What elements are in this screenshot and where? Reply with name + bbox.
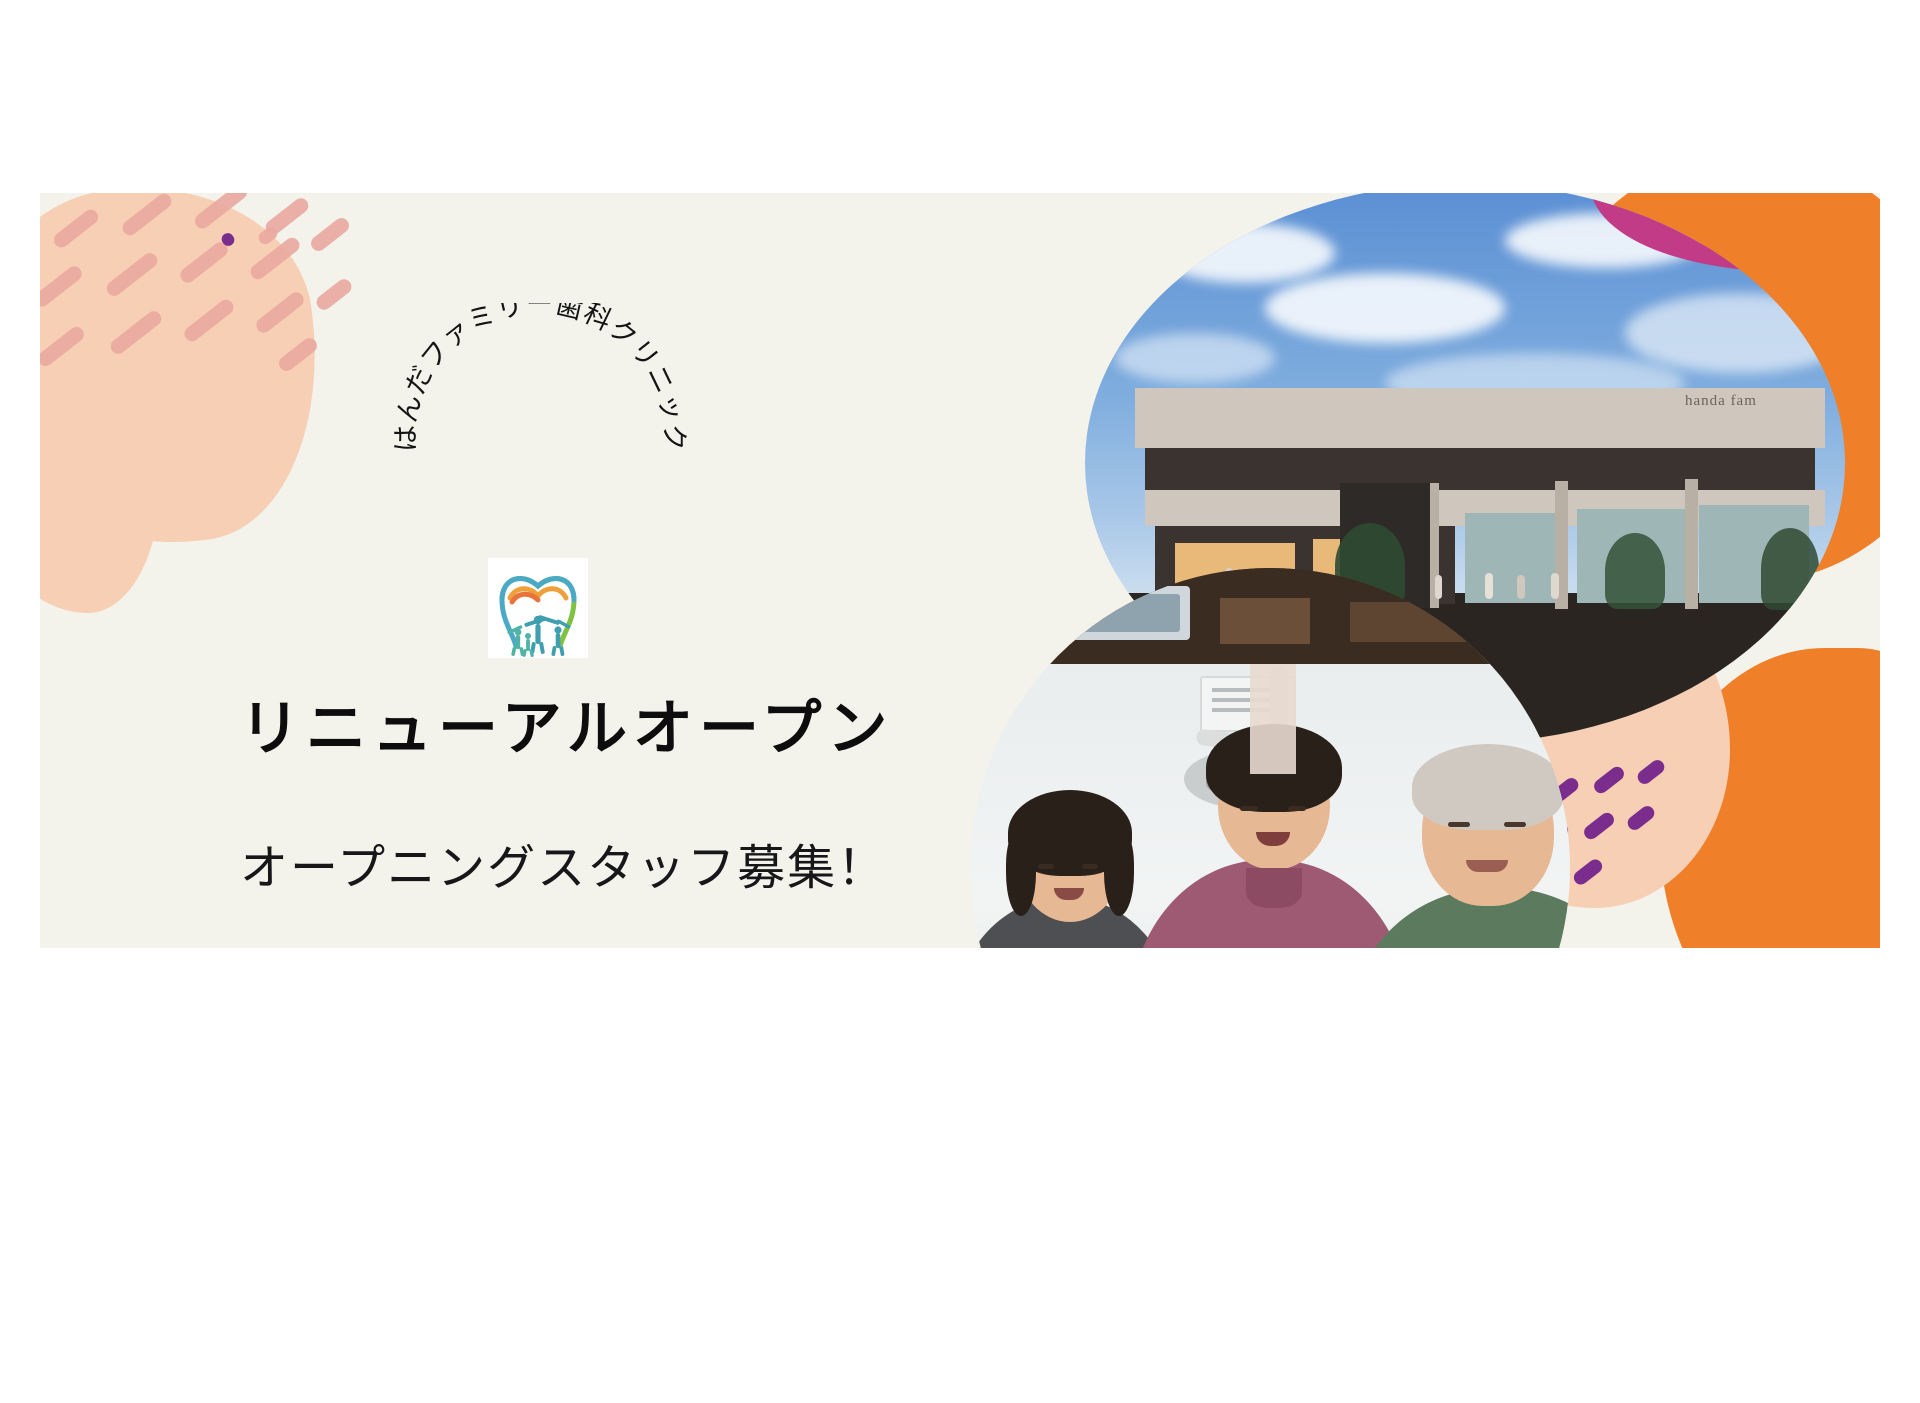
page-subtitle: オープニングスタッフ募集！ [240, 828, 887, 898]
poster-canvas: handa fam [0, 0, 1920, 1403]
clinic-sign-text: handa fam [1685, 393, 1757, 410]
clinic-logo: はんだファミリー歯科クリニック [390, 303, 690, 603]
clinic-staff-photo [970, 568, 1570, 948]
tooth-family-logo-mark [488, 558, 588, 658]
page-title: リニューアルオープン [240, 680, 893, 767]
svg-text:はんだファミリー歯科クリニック: はんだファミリー歯科クリニック [391, 303, 689, 452]
poster-card: handa fam [40, 193, 1880, 948]
